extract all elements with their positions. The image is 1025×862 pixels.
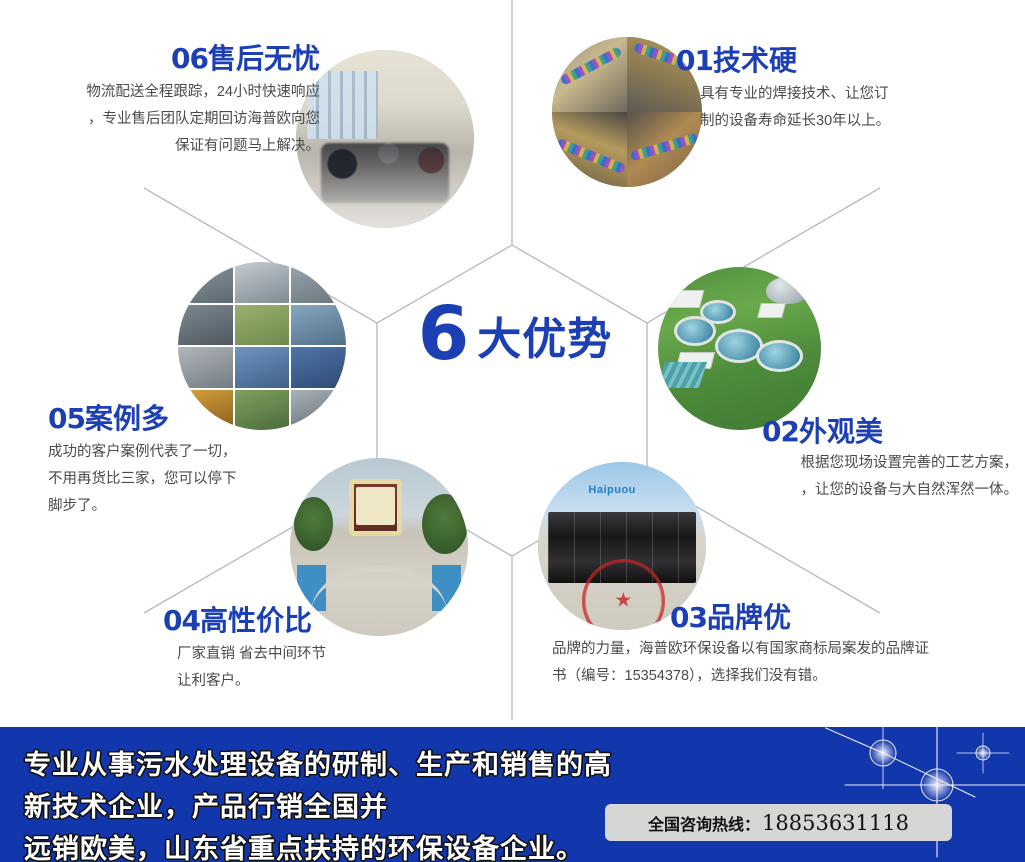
hotline-number: 18853631118: [762, 811, 909, 835]
feature-06-title: 售后无忧: [208, 43, 320, 74]
feature-03-body-line-2: 书（编号：15354378），选择我们没有错。: [552, 663, 1008, 690]
feature-03-body-line-1: 品牌的力量，海普欧环保设备以有国家商标局案发的品牌证: [552, 636, 1008, 663]
feature-04-body-line-2: 让利客户。: [177, 668, 443, 695]
feature-01: 01技术硬 具有专业的焊接技术、让您订 制的设备寿命延长30年以上。: [676, 47, 1006, 135]
feature-05-body-line-1: 成功的客户案例代表了一切，: [48, 439, 318, 466]
feature-05-title: 案例多: [85, 403, 169, 434]
feature-02-number: 02: [762, 415, 799, 448]
feature-05-heading: 05案例多: [48, 405, 318, 433]
feature-05-body-line-2: 不用再货比三家，您可以停下: [48, 466, 318, 493]
feature-06-body: 物流配送全程跟踪，24小时快速响应 ，专业售后团队定期回访海普欧向您 保证有问题…: [8, 79, 320, 159]
hotline-box[interactable]: 全国咨询热线： 18853631118: [605, 804, 952, 841]
center-number: 6: [418, 305, 470, 364]
bottom-banner: 专业从事污水处理设备的研制、生产和销售的高新技术企业，产品行销全国并 远销欧美，…: [0, 727, 1025, 862]
feature-06-body-line-1: 物流配送全程跟踪，24小时快速响应: [8, 79, 320, 106]
feature-06: 06售后无忧 物流配送全程跟踪，24小时快速响应 ，专业售后团队定期回访海普欧向…: [8, 45, 320, 159]
feature-01-body-line-2: 制的设备寿命延长30年以上。: [700, 108, 1006, 135]
feature-05-body-line-3: 脚步了。: [48, 493, 318, 520]
feature-04-body-line-1: 厂家直销 省去中间环节: [177, 641, 443, 668]
sparkle-decoration: [825, 727, 1025, 862]
feature-01-body: 具有专业的焊接技术、让您订 制的设备寿命延长30年以上。: [700, 81, 1006, 135]
feature-04: 04高性价比 厂家直销 省去中间环节 让利客户。: [163, 607, 443, 695]
center-title: 6 大优势: [400, 285, 630, 385]
banner-slogan-line-1: 专业从事污水处理设备的研制、生产和销售的高新技术企业，产品行销全国并: [24, 745, 624, 829]
feature-06-body-line-2: ，专业售后团队定期回访海普欧向您: [8, 106, 320, 133]
feature-06-number: 06: [171, 42, 208, 75]
feature-04-title: 高性价比: [200, 605, 312, 636]
feature-01-heading: 01技术硬: [676, 47, 1006, 75]
feature-06-heading: 06售后无忧: [8, 45, 320, 73]
hotline-label: 全国咨询热线：: [648, 811, 760, 835]
feature-04-number: 04: [163, 604, 200, 637]
banner-slogan-line-2: 远销欧美，山东省重点扶持的环保设备企业。: [24, 829, 624, 862]
feature-01-body-line-1: 具有专业的焊接技术、让您订: [700, 81, 1006, 108]
feature-01-number: 01: [676, 44, 713, 77]
banner-slogan: 专业从事污水处理设备的研制、生产和销售的高新技术企业，产品行销全国并 远销欧美，…: [24, 745, 624, 862]
feature-03-body: 品牌的力量，海普欧环保设备以有国家商标局案发的品牌证 书（编号：15354378…: [552, 636, 1008, 690]
feature-02-heading: 02外观美: [762, 418, 1018, 446]
aerial-wastewater-treatment-plant-photo: [658, 267, 821, 430]
feature-01-title: 技术硬: [713, 45, 797, 76]
feature-03-title: 品牌优: [707, 602, 791, 633]
feature-02-title: 外观美: [799, 416, 883, 447]
feature-05-number: 05: [48, 402, 85, 435]
feature-04-body: 厂家直销 省去中间环节 让利客户。: [177, 641, 443, 695]
feature-03: 03品牌优 品牌的力量，海普欧环保设备以有国家商标局案发的品牌证 书（编号：15…: [538, 604, 1008, 690]
feature-photo-02: [658, 267, 821, 430]
feature-06-body-line-3: 保证有问题马上解决。: [8, 133, 320, 160]
feature-05-body: 成功的客户案例代表了一切， 不用再货比三家，您可以停下 脚步了。: [48, 439, 318, 519]
infographic-root: 06售后无忧 物流配送全程跟踪，24小时快速响应 ，专业售后团队定期回访海普欧向…: [0, 0, 1025, 862]
feature-03-number: 03: [670, 601, 707, 634]
feature-04-heading: 04高性价比: [163, 607, 443, 635]
feature-03-heading: 03品牌优: [670, 604, 1008, 632]
center-label: 大优势: [477, 303, 612, 367]
feature-05: 05案例多 成功的客户案例代表了一切， 不用再货比三家，您可以停下 脚步了。: [48, 405, 318, 519]
feature-photo-06: [296, 50, 474, 228]
office-staff-at-computers-photo: [296, 50, 474, 228]
haipuou-logo: Haipuou: [588, 484, 636, 496]
